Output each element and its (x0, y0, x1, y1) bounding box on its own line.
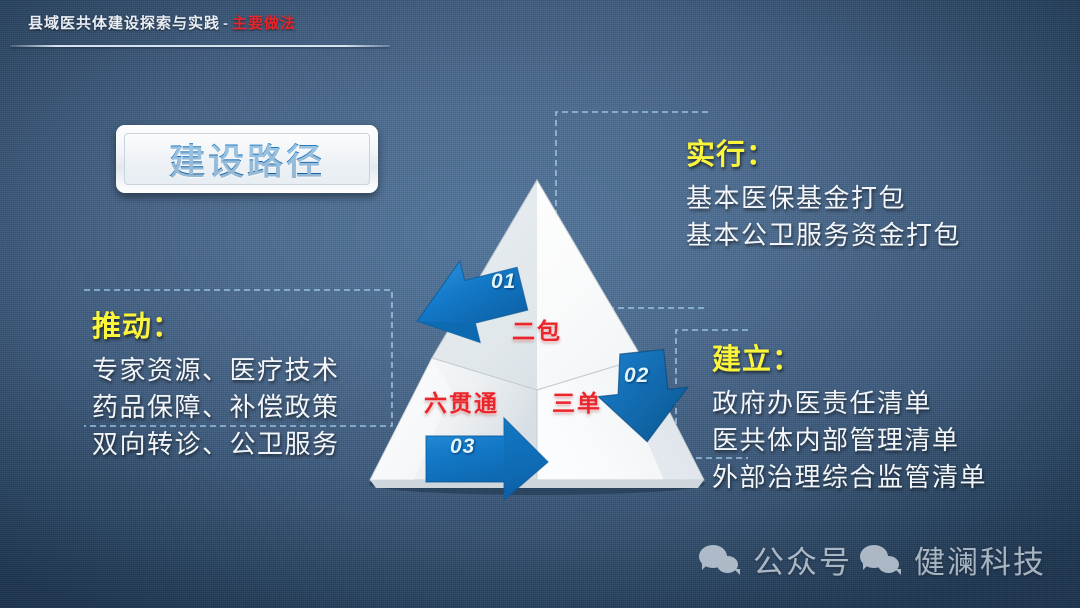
pyramid-label-bottom-left: 六贯通 (424, 384, 499, 418)
pyramid-label-top: 二包 (512, 312, 562, 346)
header-separator: - (220, 15, 232, 32)
section-title-plaque: 建设路径 (116, 125, 378, 193)
bottom-right-block-line-2: 医共体内部管理清单 (712, 422, 987, 459)
arrow-03-number: 03 (450, 435, 475, 459)
bottom-right-block-heading: 建立： (712, 336, 987, 378)
top-right-block-heading: 实行： (686, 131, 961, 173)
text-block-top-right: 实行： 基本医保基金打包 基本公卫服务资金打包 (686, 131, 961, 254)
top-right-block-line-2: 基本公卫服务资金打包 (686, 217, 961, 254)
page-title: 建设路径 (169, 133, 325, 185)
bottom-right-block-line-1: 政府办医责任清单 (712, 385, 987, 422)
text-block-bottom-right: 建立： 政府办医责任清单 医共体内部管理清单 外部治理综合监管清单 (712, 336, 987, 496)
left-block-heading: 推动： (92, 303, 340, 345)
header-accent-title: 主要做法 (232, 15, 296, 32)
arrow-01-number: 01 (491, 270, 516, 294)
bottom-right-block-line-3: 外部治理综合监管清单 (712, 459, 987, 496)
slide-header: 县域医共体建设探索与实践-主要做法 (28, 12, 296, 33)
wechat-icon-right (860, 543, 906, 577)
left-block-line-2: 药品保障、补偿政策 (92, 389, 340, 426)
text-block-left: 推动： 专家资源、医疗技术 药品保障、补偿政策 双向转诊、公卫服务 (92, 303, 340, 463)
left-block-line-1: 专家资源、医疗技术 (92, 352, 340, 389)
wechat-icon-left (699, 543, 745, 577)
header-main-title: 县域医共体建设探索与实践 (28, 15, 220, 32)
plaque-inner-bevel: 建设路径 (124, 133, 370, 185)
header-divider-line (10, 45, 390, 47)
pyramid-diagram: 二包 六贯通 三单 01 02 03 (352, 162, 722, 502)
slide-canvas: 县域医共体建设探索与实践-主要做法 建设路径 (0, 0, 1080, 608)
left-block-line-3: 双向转诊、公卫服务 (92, 426, 340, 463)
pyramid-label-bottom-right: 三单 (552, 384, 602, 418)
watermark-label: 公众号 (753, 537, 852, 582)
top-right-block-line-1: 基本医保基金打包 (686, 180, 961, 217)
watermark-brand: 健澜科技 (914, 537, 1046, 582)
arrow-02-number: 02 (624, 364, 649, 388)
watermark: 公众号 健澜科技 (699, 537, 1046, 582)
